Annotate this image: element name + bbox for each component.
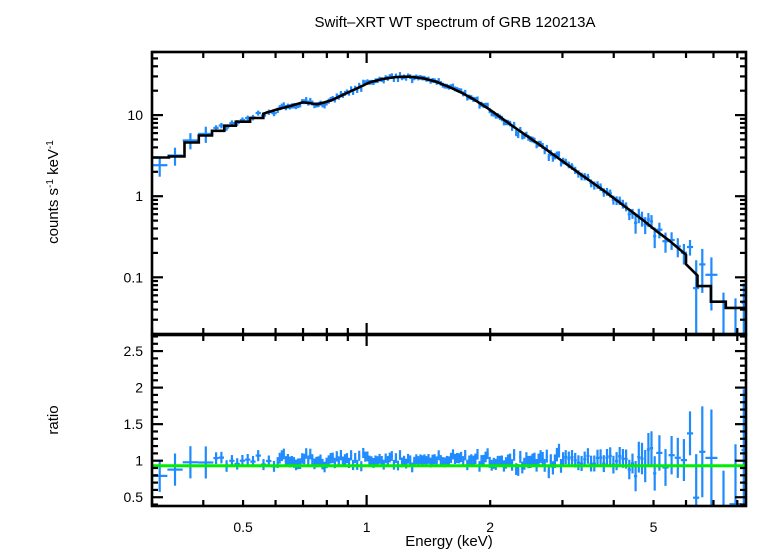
figure-root: Swift–XRT WT spectrum of GRB 120213A cou… (0, 0, 758, 556)
y-axis-label-spectrum: counts s-1 keV-1 (45, 140, 63, 244)
y-tick-label-ratio: 1.5 (124, 416, 144, 432)
y-tick-label-ratio: 0.5 (124, 489, 144, 505)
x-tick-label: 1 (363, 519, 371, 535)
x-tick-label: 2 (486, 519, 494, 535)
y-tick-label-ratio: 1 (135, 453, 143, 469)
page-title: Swift–XRT WT spectrum of GRB 120213A (315, 14, 596, 31)
y-tick-label-spectrum: 0.1 (124, 269, 144, 285)
x-axis-label: Energy (keV) (405, 533, 493, 550)
x-tick-label: 0.5 (233, 519, 253, 535)
y-tick-label-spectrum: 10 (127, 107, 143, 123)
y-axis-label-ratio: ratio (45, 405, 62, 434)
y-tick-label-ratio: 2 (135, 380, 143, 396)
y-tick-label-spectrum: 1 (135, 188, 143, 204)
x-tick-label: 5 (650, 519, 658, 535)
y-tick-label-ratio: 2.5 (124, 343, 144, 359)
spectrum-plot: Swift–XRT WT spectrum of GRB 120213A cou… (0, 0, 758, 556)
